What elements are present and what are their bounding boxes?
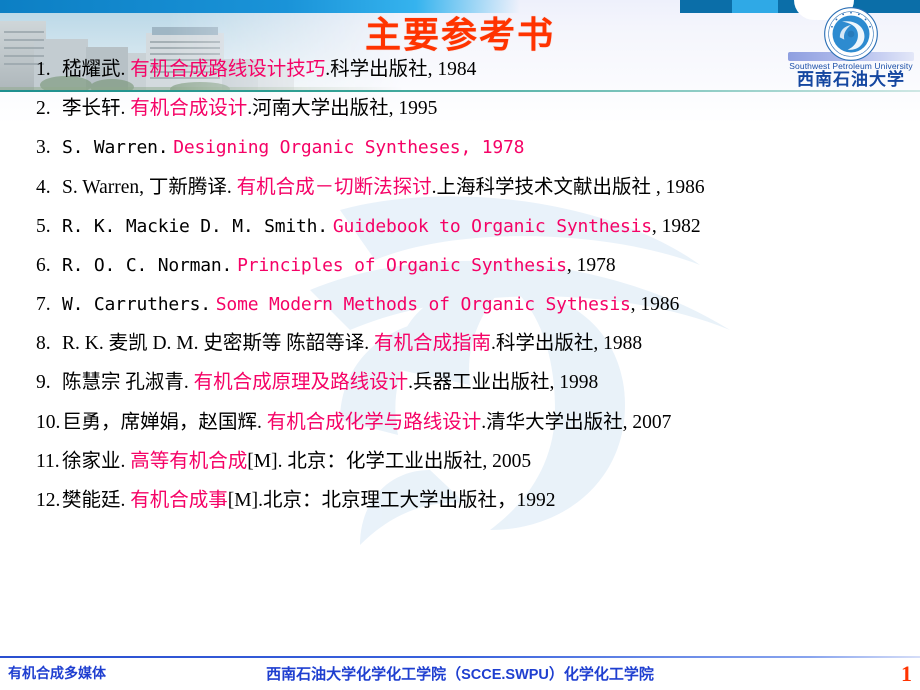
reference-item: 9.陈慧宗 孔淑青. 有机合成原理及路线设计.兵器工业出版社, 1998 xyxy=(36,371,908,395)
reference-list: 1.嵇耀武. 有机合成路线设计技巧.科学出版社, 19842.李长轩. 有机合成… xyxy=(36,58,908,528)
reference-publisher: , 1986 xyxy=(631,294,680,315)
reference-text: W. Carruthers. Some Modern Methods of Or… xyxy=(62,293,908,317)
reference-text: 樊能廷. 有机合成事[M].北京：北京理工大学出版社，1992 xyxy=(62,489,908,513)
reference-publisher: .兵器工业出版社, 1998 xyxy=(408,372,598,393)
reference-number: 9. xyxy=(36,371,62,395)
reference-publisher: , 1982 xyxy=(652,216,701,237)
reference-item: 10.巨勇，席婵娟，赵国辉. 有机合成化学与路线设计.清华大学出版社, 2007 xyxy=(36,411,908,435)
reference-item: 11.徐家业. 高等有机合成[M]. 北京：化学工业出版社, 2005 xyxy=(36,450,908,474)
reference-item: 6.R. O. C. Norman. Principles of Organic… xyxy=(36,254,908,278)
reference-text: 嵇耀武. 有机合成路线设计技巧.科学出版社, 1984 xyxy=(62,58,908,82)
reference-author: R. O. C. Norman. xyxy=(62,255,232,276)
reference-title: 有机合成－切断法探讨 xyxy=(237,177,432,198)
reference-text: 徐家业. 高等有机合成[M]. 北京：化学工业出版社, 2005 xyxy=(62,450,908,474)
reference-number: 5. xyxy=(36,215,62,239)
reference-title: 高等有机合成 xyxy=(130,451,247,472)
reference-publisher: .河南大学出版社, 1995 xyxy=(247,98,437,119)
reference-author: 徐家业. xyxy=(62,451,125,472)
reference-author: 嵇耀武. xyxy=(62,59,125,80)
reference-publisher: .科学出版社, 1988 xyxy=(491,333,642,354)
reference-text: S. Warren. Designing Organic Syntheses, … xyxy=(62,136,908,160)
reference-item: 2.李长轩. 有机合成设计.河南大学出版社, 1995 xyxy=(36,97,908,121)
reference-author: 巨勇，席婵娟，赵国辉. xyxy=(62,412,262,433)
reference-title: 有机合成设计 xyxy=(130,98,247,119)
reference-item: 3.S. Warren. Designing Organic Syntheses… xyxy=(36,136,908,160)
logo-chinese-name: 西南石油大学 xyxy=(788,71,914,89)
reference-number: 11. xyxy=(36,450,62,474)
reference-item: 1.嵇耀武. 有机合成路线设计技巧.科学出版社, 1984 xyxy=(36,58,908,82)
reference-number: 10. xyxy=(36,411,62,435)
reference-publisher: , 1978 xyxy=(567,255,616,276)
reference-item: 4.S. Warren, 丁新腾译. 有机合成－切断法探讨.上海科学技术文献出版… xyxy=(36,176,908,200)
footer-divider xyxy=(0,656,920,658)
footer-center-after: ）化学化工学院 xyxy=(549,667,654,683)
reference-author: W. Carruthers. xyxy=(62,294,211,315)
reference-publisher: .科学出版社, 1984 xyxy=(325,59,476,80)
reference-text: R. K. Mackie D. M. Smith. Guidebook to O… xyxy=(62,215,908,239)
reference-title: 有机合成指南 xyxy=(374,333,491,354)
reference-author: S. Warren, 丁新腾译. xyxy=(62,177,232,198)
reference-item: 8.R. K. 麦凯 D. M. 史密斯等 陈韶等译. 有机合成指南.科学出版社… xyxy=(36,332,908,356)
reference-publisher: .上海科学技术文献出版社 , 1986 xyxy=(432,177,705,198)
reference-author: R. K. 麦凯 D. M. 史密斯等 陈韶等译. xyxy=(62,333,369,354)
reference-item: 7.W. Carruthers. Some Modern Methods of … xyxy=(36,293,908,317)
page-number: 1 xyxy=(901,661,912,687)
slide-title: 主要参考书 xyxy=(0,6,920,58)
reference-number: 4. xyxy=(36,176,62,200)
footer-center-before: 西南石油大学化学化工学院（ xyxy=(266,667,461,683)
reference-number: 6. xyxy=(36,254,62,278)
reference-author: 樊能廷. xyxy=(62,490,125,511)
reference-text: R. K. 麦凯 D. M. 史密斯等 陈韶等译. 有机合成指南.科学出版社, … xyxy=(62,332,908,356)
footer-center-label: 西南石油大学化学化工学院（SCCE.SWPU）化学化工学院 xyxy=(0,663,920,684)
reference-publisher: .清华大学出版社, 2007 xyxy=(481,412,671,433)
reference-publisher: [M].北京：北京理工大学出版社，1992 xyxy=(228,490,556,511)
reference-text: 巨勇，席婵娟，赵国辉. 有机合成化学与路线设计.清华大学出版社, 2007 xyxy=(62,411,908,435)
slide-footer: 有机合成多媒体 西南石油大学化学化工学院（SCCE.SWPU）化学化工学院 1 xyxy=(0,659,920,690)
reference-number: 12. xyxy=(36,489,62,513)
reference-author: S. Warren. xyxy=(62,137,168,158)
reference-title: Guidebook to Organic Synthesis xyxy=(333,216,652,237)
reference-number: 3. xyxy=(36,136,62,160)
reference-publisher: [M]. 北京：化学工业出版社, 2005 xyxy=(247,451,531,472)
reference-author: 李长轩. xyxy=(62,98,125,119)
reference-text: S. Warren, 丁新腾译. 有机合成－切断法探讨.上海科学技术文献出版社 … xyxy=(62,176,908,200)
reference-text: 李长轩. 有机合成设计.河南大学出版社, 1995 xyxy=(62,97,908,121)
slide-canvas: 主要参考书 Southwest Petroleum University 西南石… xyxy=(0,0,920,690)
reference-author: R. K. Mackie D. M. Smith. xyxy=(62,216,328,237)
reference-number: 7. xyxy=(36,293,62,317)
reference-title: Principles of Organic Synthesis xyxy=(237,255,567,276)
reference-title: 有机合成原理及路线设计 xyxy=(194,372,409,393)
reference-text: R. O. C. Norman. Principles of Organic S… xyxy=(62,254,908,278)
reference-author: 陈慧宗 孔淑青. xyxy=(62,372,189,393)
reference-number: 8. xyxy=(36,332,62,356)
reference-number: 1. xyxy=(36,58,62,82)
reference-title: 有机合成事 xyxy=(130,490,228,511)
reference-text: 陈慧宗 孔淑青. 有机合成原理及路线设计.兵器工业出版社, 1998 xyxy=(62,371,908,395)
reference-item: 12.樊能廷. 有机合成事[M].北京：北京理工大学出版社，1992 xyxy=(36,489,908,513)
reference-number: 2. xyxy=(36,97,62,121)
reference-title: 有机合成路线设计技巧 xyxy=(130,59,325,80)
reference-title: 有机合成化学与路线设计 xyxy=(267,412,482,433)
header-divider xyxy=(0,90,920,92)
reference-item: 5.R. K. Mackie D. M. Smith. Guidebook to… xyxy=(36,215,908,239)
reference-title: Designing Organic Syntheses, 1978 xyxy=(173,137,524,158)
footer-center-acronym: SCCE.SWPU xyxy=(461,667,549,683)
reference-title: Some Modern Methods of Organic Sythesis xyxy=(216,294,631,315)
